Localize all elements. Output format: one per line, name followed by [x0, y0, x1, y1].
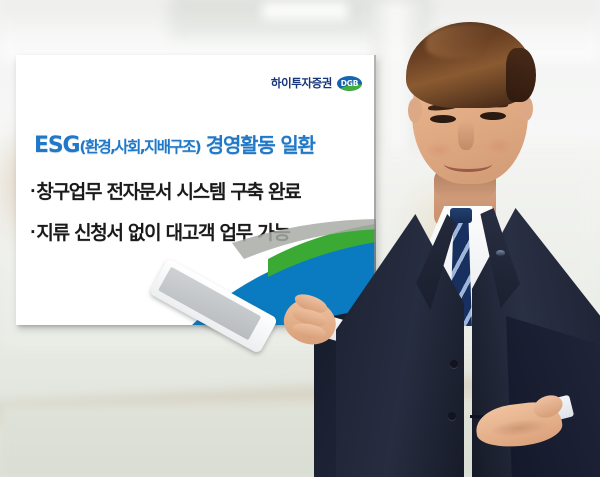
page-title: ESG(환경,사회,지배구조) 경영활동 일환: [34, 129, 364, 158]
lapel-pin-icon: [496, 250, 505, 256]
bullet-marker: ·: [30, 182, 34, 200]
title-lead: ESG: [34, 133, 79, 158]
title-tail: 경영활동 일환: [206, 133, 315, 157]
jacket-button: [450, 360, 458, 368]
ear-left: [408, 98, 422, 123]
smiling-mouth: [444, 156, 492, 172]
brand-name: 하이투자증권: [271, 75, 332, 91]
list-item: ·창구업무 전자문서 시스템 구축 완료: [30, 177, 370, 204]
eye-left: [430, 115, 456, 123]
bullet-text: 창구업무 전자문서 시스템 구축 완료: [36, 181, 300, 203]
bullet-marker: ·: [30, 223, 34, 241]
eye-right: [480, 112, 506, 120]
hair-side: [506, 48, 536, 102]
jacket-button: [448, 412, 456, 420]
title-paren: (환경,사회,지배구조): [79, 138, 200, 156]
hair-highlight: [426, 24, 510, 58]
dgb-badge-label: DGB: [341, 79, 359, 88]
businessman-photo: [330, 0, 600, 477]
cheek-right: [486, 138, 512, 154]
nose: [458, 120, 474, 150]
promotional-banner: 하이투자증권 DGB ESG(환경,사회,지배구조) 경영활동 일환 ·창구업무…: [0, 0, 600, 477]
